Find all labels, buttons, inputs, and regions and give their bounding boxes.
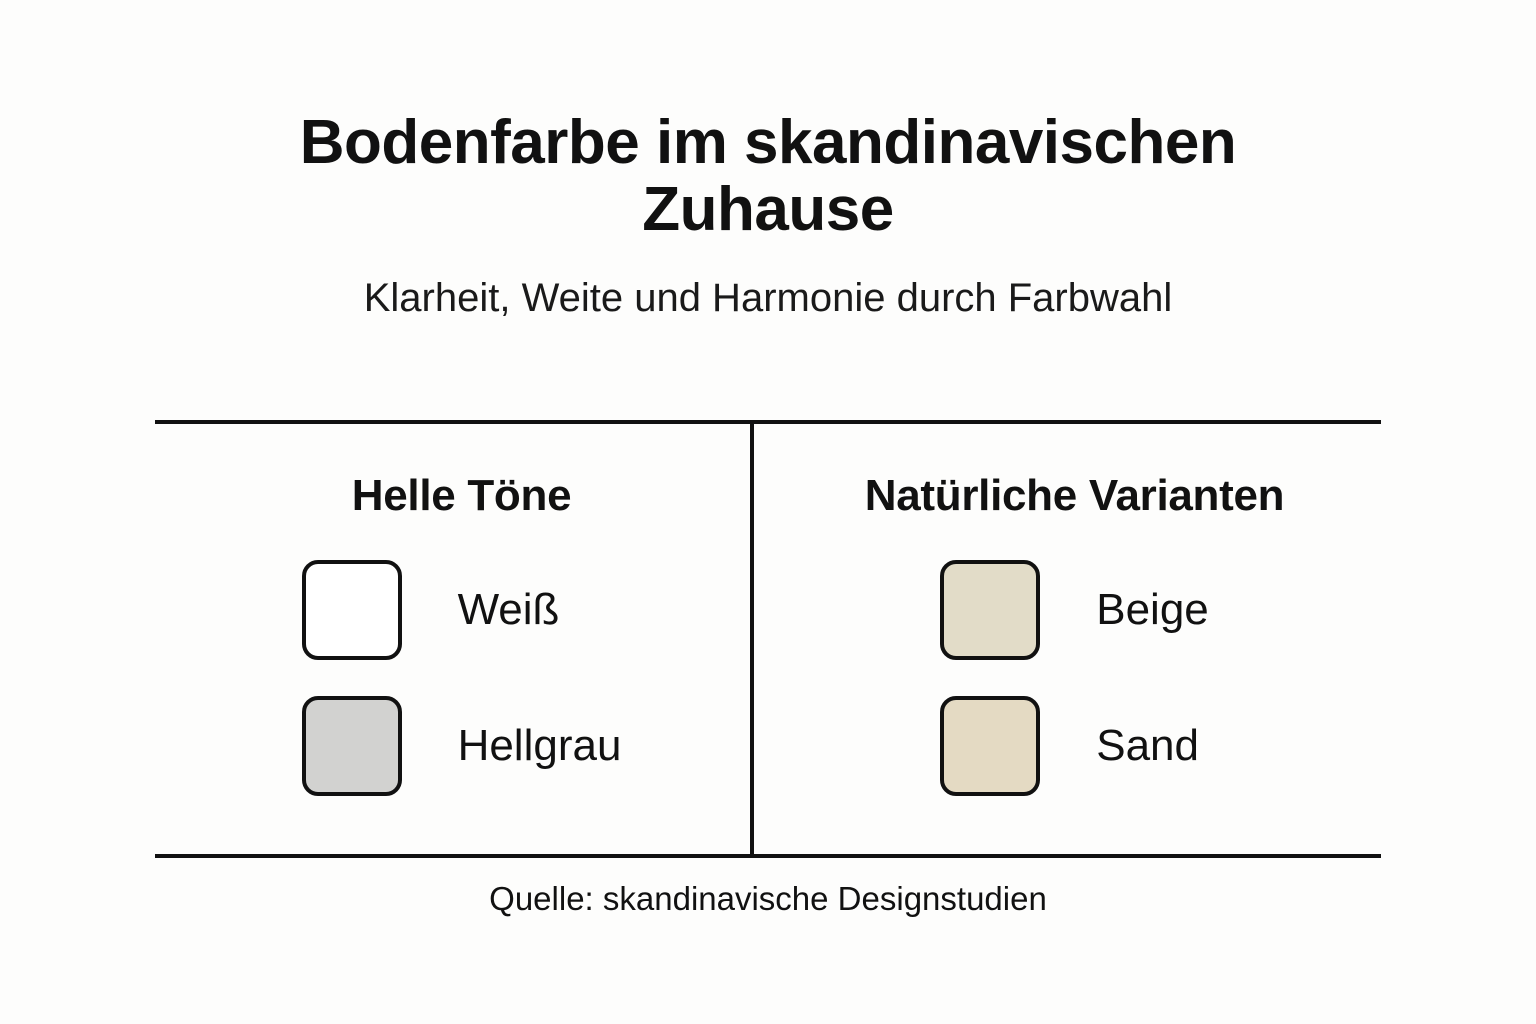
column-title: Natürliche Varianten xyxy=(865,472,1284,520)
color-swatch-icon xyxy=(302,560,402,660)
swatch-row[interactable]: Sand xyxy=(940,696,1199,796)
columns-container: Helle Töne Weiß Hellgrau Natürliche Vari… xyxy=(155,422,1381,856)
swatch-list: Beige Sand xyxy=(940,560,1209,796)
header-block: Bodenfarbe im skandinavischen Zuhause Kl… xyxy=(155,110,1381,322)
column-title: Helle Töne xyxy=(352,472,572,520)
source-note: Quelle: skandinavische Designstudien xyxy=(155,880,1381,918)
column-divider xyxy=(750,422,754,856)
swatch-label: Sand xyxy=(1096,724,1199,768)
swatch-list: Weiß Hellgrau xyxy=(302,560,622,796)
column-natuerliche-varianten: Natürliche Varianten Beige Sand xyxy=(768,422,1381,856)
swatch-label: Beige xyxy=(1096,588,1209,632)
swatch-label: Hellgrau xyxy=(458,724,622,768)
column-helle-toene: Helle Töne Weiß Hellgrau xyxy=(155,422,768,856)
color-swatch-icon xyxy=(302,696,402,796)
swatch-row[interactable]: Hellgrau xyxy=(302,696,622,796)
swatch-row[interactable]: Weiß xyxy=(302,560,560,660)
swatch-row[interactable]: Beige xyxy=(940,560,1209,660)
infographic-root: Bodenfarbe im skandinavischen Zuhause Kl… xyxy=(0,0,1536,1024)
color-swatch-icon xyxy=(940,560,1040,660)
color-swatch-icon xyxy=(940,696,1040,796)
page-title: Bodenfarbe im skandinavischen Zuhause xyxy=(155,110,1381,244)
page-subtitle: Klarheit, Weite und Harmonie durch Farbw… xyxy=(155,244,1381,322)
swatch-label: Weiß xyxy=(458,588,560,632)
rule-bottom xyxy=(155,854,1381,858)
